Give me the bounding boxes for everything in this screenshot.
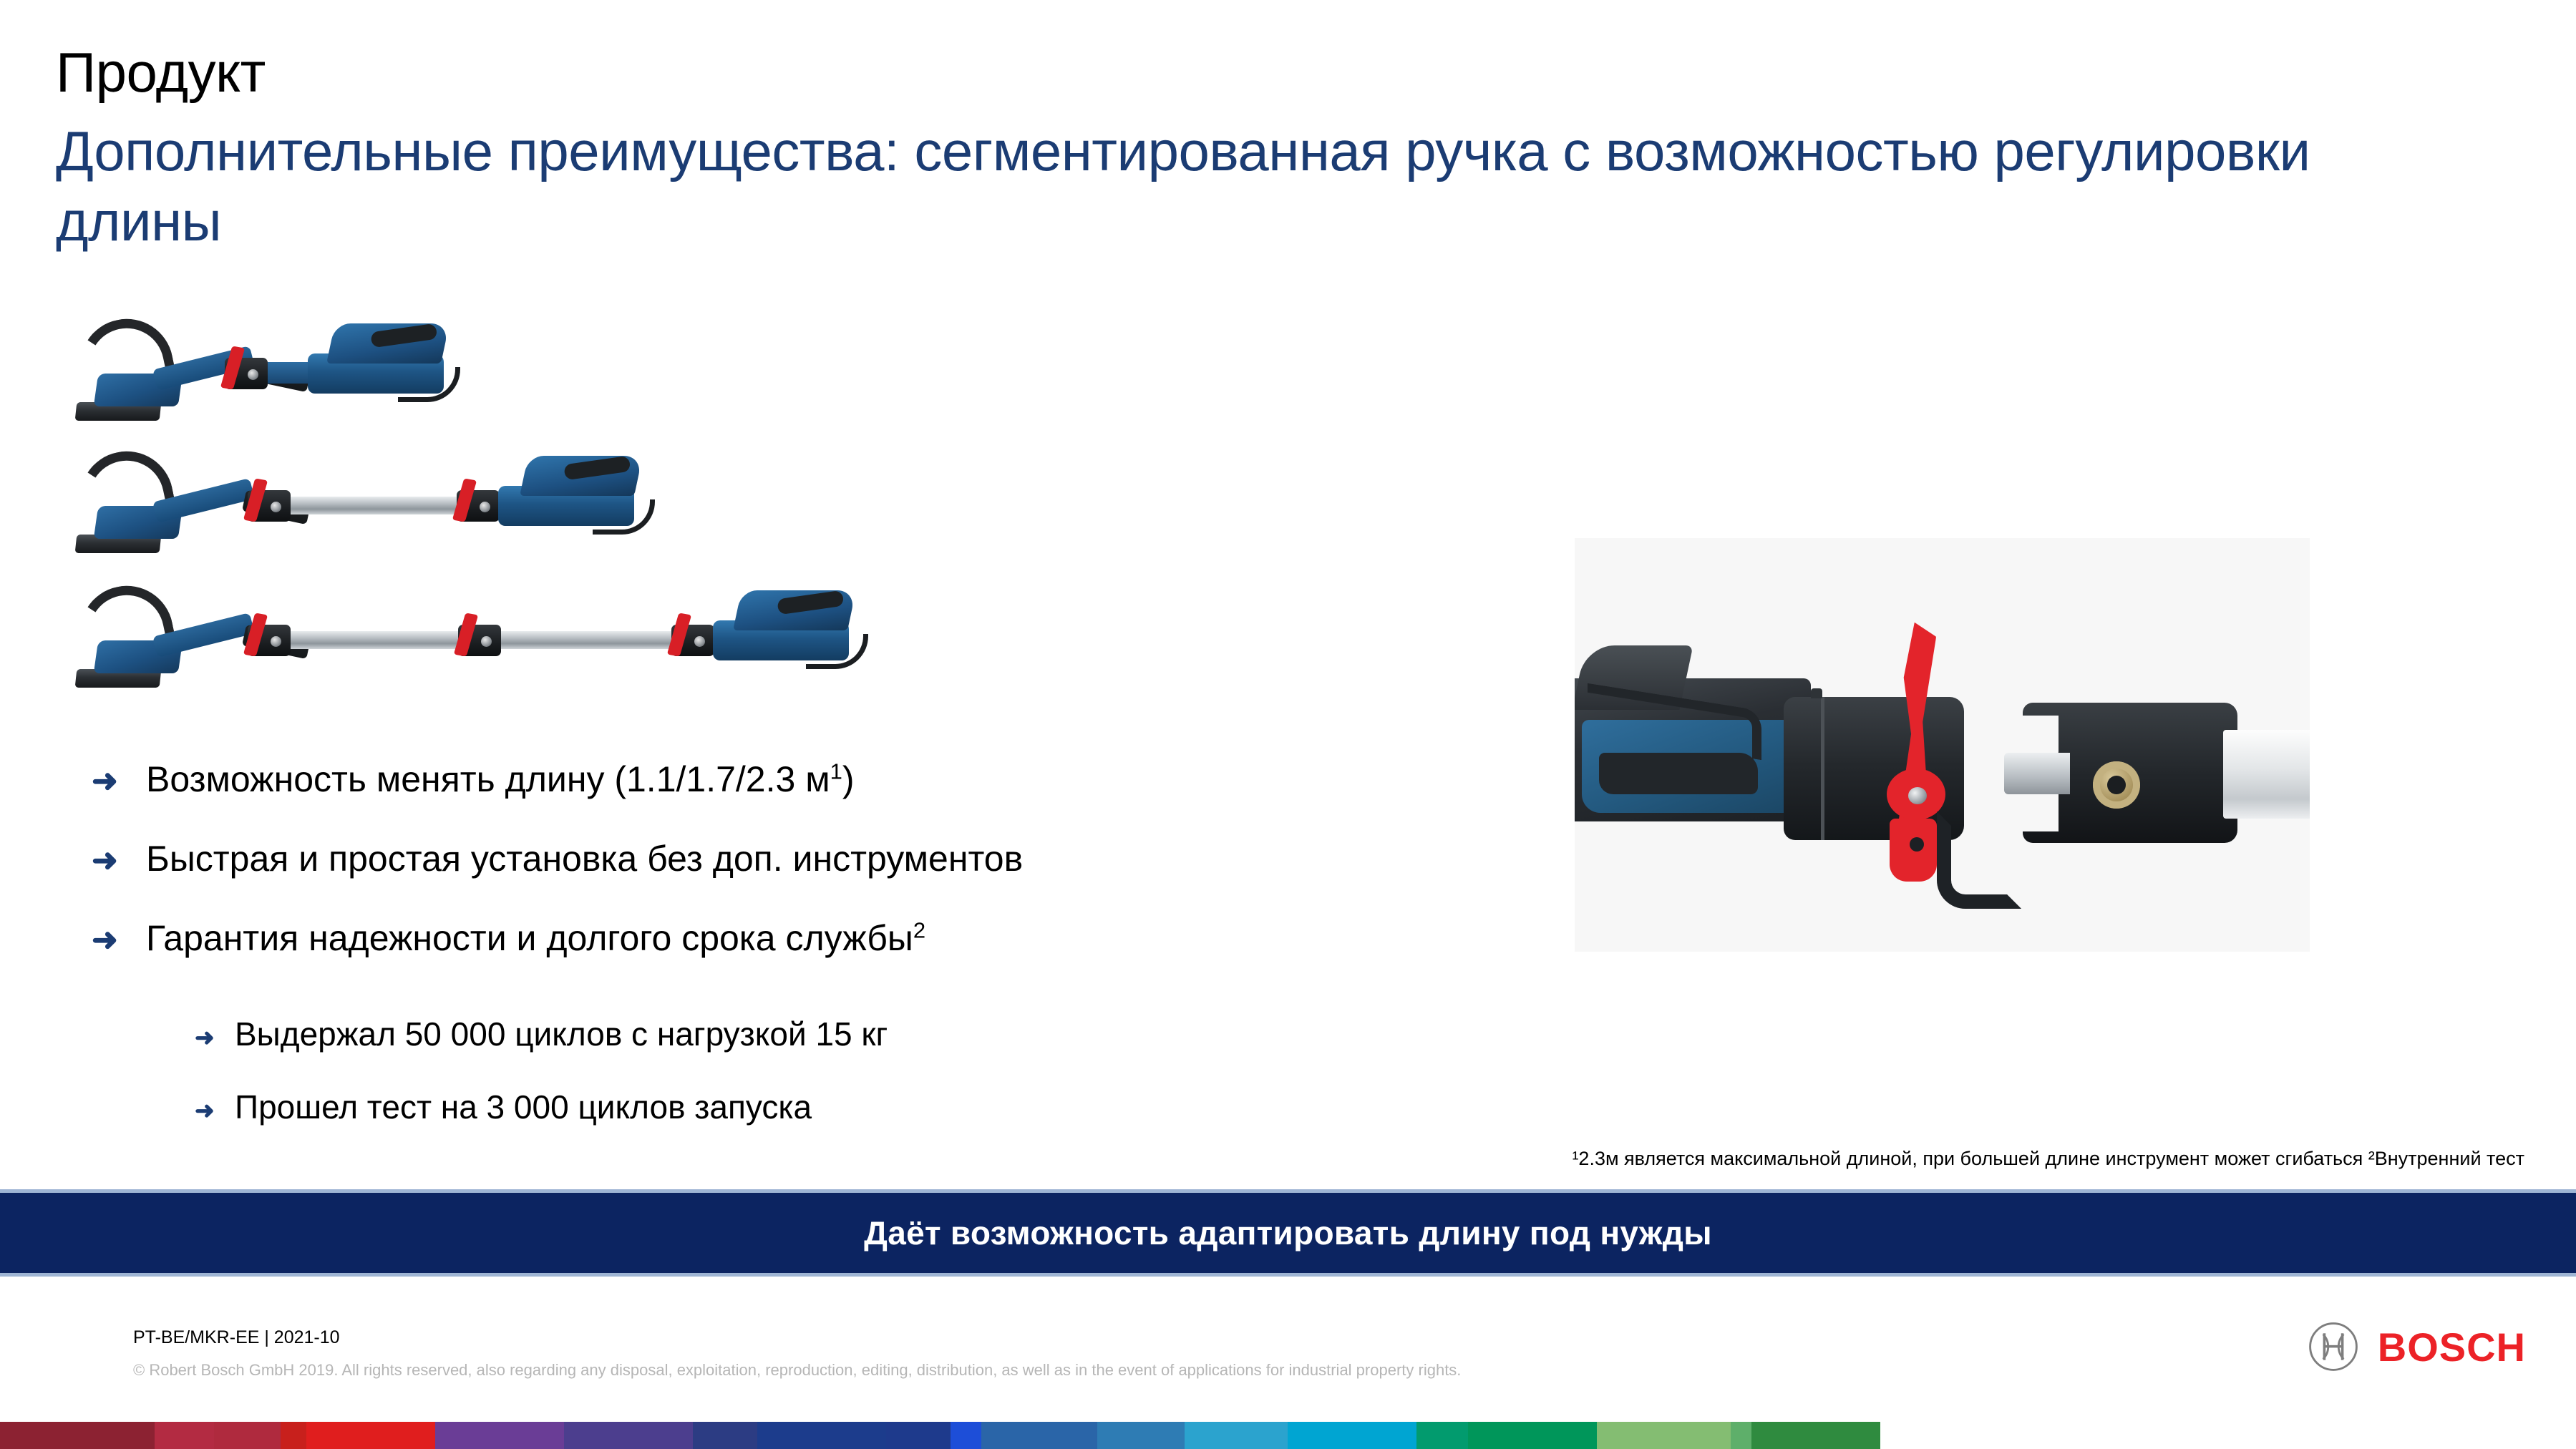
color-bar-segment: [693, 1422, 757, 1449]
product-image-stack: [72, 331, 1016, 717]
socket-notch-bottom: [2013, 789, 2059, 831]
power-cable-icon: [593, 499, 655, 535]
clamp-collar: [458, 625, 501, 656]
power-cable-icon: [398, 367, 460, 402]
slide-kicker: Продукт: [56, 44, 2489, 100]
arrow-bullet-icon: ➜: [92, 766, 146, 797]
color-bar-segment: [214, 1422, 281, 1449]
lever-pivot-screw-icon: [1908, 787, 1927, 804]
clamp-pin-icon: [481, 636, 492, 647]
socket-notch-top: [2013, 716, 2059, 757]
rear-grip: [326, 323, 449, 364]
list-item: ➜ Возможность менять длину (1.1/1.7/2.3 …: [92, 758, 1523, 801]
knob-screw-icon: [2107, 776, 2126, 794]
color-bar-segment: [951, 1422, 981, 1449]
extension-tube: [286, 497, 480, 514]
color-bar-segment: [1288, 1422, 1416, 1449]
bullet-text: Быстрая и простая установка без доп. инс…: [146, 838, 1023, 880]
color-bar-segment: [281, 1422, 306, 1449]
banner-text: Даёт возможность адаптировать длину под …: [864, 1214, 1712, 1252]
clamp-collar: [671, 625, 714, 656]
rear-grip: [733, 590, 856, 630]
grip-pad: [1599, 753, 1758, 794]
arrow-bullet-icon: ➜: [92, 845, 146, 877]
bosch-armature-icon: [2308, 1321, 2359, 1372]
list-item: ➜ Быстрая и простая установка без доп. и…: [92, 838, 1523, 880]
clamp-collar: [225, 358, 268, 389]
product-image-medium: [72, 459, 716, 556]
color-bar-segment: [0, 1422, 155, 1449]
color-bar-segment: [1751, 1422, 1880, 1449]
lock-tab-screw-icon: [1910, 837, 1924, 852]
bosch-wordmark: BOSCH: [2378, 1324, 2526, 1370]
barrel-seam: [1821, 697, 1824, 840]
color-bar-segment: [155, 1422, 214, 1449]
key-message-banner: Даёт возможность адаптировать длину под …: [0, 1189, 2576, 1277]
clamp-pin-icon: [271, 636, 281, 647]
grip-pad: [563, 456, 631, 481]
color-bar-segment: [1468, 1422, 1597, 1449]
power-cable-icon: [806, 634, 868, 669]
clamp-collar: [248, 490, 291, 522]
color-bar-segment: [435, 1422, 564, 1449]
slide-headline: Дополнительные преимущества: сегментиров…: [56, 116, 2446, 257]
bosch-logo: BOSCH: [2308, 1321, 2526, 1372]
color-bar-segment: [564, 1422, 693, 1449]
footnote-marker: 1: [830, 758, 842, 784]
rear-grip: [520, 456, 643, 496]
clamp-pin-icon: [694, 636, 705, 647]
color-bar-segment: [886, 1422, 951, 1449]
footnote-text: ¹2.3м является максимальной длиной, при …: [1572, 1148, 2524, 1170]
socket-inner-sleeve: [2004, 753, 2070, 794]
clamp-collar: [457, 490, 500, 522]
bullet-list: ➜ Возможность менять длину (1.1/1.7/2.3 …: [92, 758, 1523, 997]
list-item: ➜ Гарантия надежности и долгого срока сл…: [92, 917, 1523, 960]
color-bar-segment: [1416, 1422, 1468, 1449]
color-bar-segment: [1185, 1422, 1288, 1449]
black-hook: [1937, 811, 2021, 909]
color-bar-segment: [1731, 1422, 1751, 1449]
grip-pad: [777, 590, 844, 615]
slide-title-block: Продукт Дополнительные преимущества: сег…: [56, 44, 2489, 257]
list-item: ➜ Выдержал 50 000 циклов с нагрузкой 15 …: [195, 1015, 1483, 1053]
bullet-text: Гарантия надежности и долгого срока служ…: [146, 917, 925, 960]
footer-document-id: PT-BE/MKR-EE | 2021-10: [133, 1327, 340, 1348]
product-image-short: [72, 331, 444, 424]
clamp-pin-icon: [480, 502, 490, 512]
list-item: ➜ Прошел тест на 3 000 циклов запуска: [195, 1088, 1483, 1126]
clamp-pin-icon: [248, 369, 258, 380]
footnote-marker: 2: [913, 917, 925, 942]
clamp-collar: [248, 625, 291, 656]
brand-color-bar: [0, 1422, 2576, 1449]
detail-photo-clamp-coupling: [1575, 538, 2310, 952]
sub-bullet-text: Выдержал 50 000 циклов с нагрузкой 15 кг: [235, 1015, 888, 1053]
clamp-pin-icon: [271, 502, 281, 512]
arrow-bullet-icon: ➜: [92, 924, 146, 956]
product-image-long: [72, 594, 930, 691]
color-bar-segment: [1597, 1422, 1731, 1449]
barrel-nub: [1811, 688, 1822, 698]
color-bar-segment: [981, 1422, 1097, 1449]
bullet-text: Возможность менять длину (1.1/1.7/2.3 м1…: [146, 758, 854, 801]
arrow-bullet-icon: ➜: [195, 1098, 235, 1122]
color-bar-segment: [757, 1422, 886, 1449]
grip-pad: [370, 323, 437, 348]
extension-pipe: [2223, 730, 2310, 819]
sub-bullet-list: ➜ Выдержал 50 000 циклов с нагрузкой 15 …: [195, 1015, 1483, 1161]
footer-copyright: © Robert Bosch GmbH 2019. All rights res…: [133, 1361, 1461, 1380]
color-bar-segment: [306, 1422, 435, 1449]
color-bar-segment: [1097, 1422, 1185, 1449]
sub-bullet-text: Прошел тест на 3 000 циклов запуска: [235, 1088, 812, 1126]
arrow-bullet-icon: ➜: [195, 1025, 235, 1049]
